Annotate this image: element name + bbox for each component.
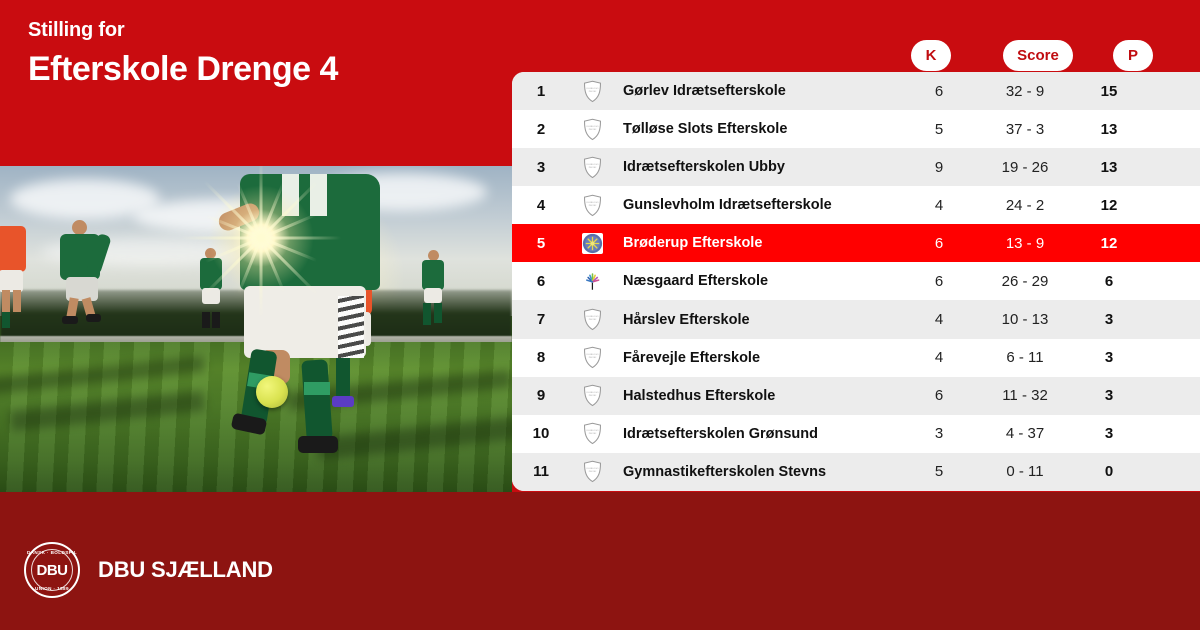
generic-shield-crest: KLUBLOGO PÅ VEJ — [583, 422, 602, 445]
svg-text:KLUBLOGO: KLUBLOGO — [586, 202, 598, 204]
svg-text:KLUBLOGO: KLUBLOGO — [586, 316, 598, 318]
row-rank: 10 — [512, 425, 570, 442]
row-goal-score: 32 - 9 — [977, 83, 1073, 100]
svg-text:KLUBLOGO: KLUBLOGO — [586, 88, 598, 90]
row-rank: 7 — [512, 311, 570, 328]
table-row[interactable]: 7 KLUBLOGO PÅ VEJ Hårslev Efterskole410 … — [512, 300, 1200, 338]
svg-text:KLUBLOGO: KLUBLOGO — [586, 164, 598, 166]
title-block: Stilling for Efterskole Drenge 4 — [28, 18, 338, 91]
table-row[interactable]: 4 KLUBLOGO PÅ VEJ Gunslevholm Idrætsefte… — [512, 186, 1200, 224]
table-row[interactable]: 1 KLUBLOGO PÅ VEJ Gørlev Idrætsefterskol… — [512, 72, 1200, 110]
row-goal-score: 37 - 3 — [977, 121, 1073, 138]
row-matches-played: 4 — [901, 197, 977, 214]
dbu-logo-mark: DBU — [37, 562, 68, 579]
row-rank: 3 — [512, 159, 570, 176]
row-goal-score: 13 - 9 — [977, 235, 1073, 252]
table-row[interactable]: 10 KLUBLOGO PÅ VEJ Idrætsefterskolen Grø… — [512, 415, 1200, 453]
row-team-name: Hårslev Efterskole — [614, 312, 901, 328]
football-photo — [0, 166, 512, 492]
row-points: 6 — [1073, 273, 1145, 290]
naesgaard-tree-crest — [582, 271, 603, 292]
generic-shield-crest: KLUBLOGO PÅ VEJ — [583, 384, 602, 407]
generic-shield-crest: KLUBLOGO PÅ VEJ — [583, 460, 602, 483]
svg-text:PÅ VEJ: PÅ VEJ — [588, 89, 595, 92]
row-points: 13 — [1073, 121, 1145, 138]
row-team-name: Gunslevholm Idrætsefterskole — [614, 197, 901, 213]
row-rank: 6 — [512, 273, 570, 290]
generic-shield-crest: KLUBLOGO PÅ VEJ — [583, 346, 602, 369]
svg-text:KLUBLOGO: KLUBLOGO — [586, 430, 598, 432]
footer-band: DANSK · BOLDSPIL DBU · UNION · 1889 · DB… — [0, 492, 1200, 630]
row-team-name: Halstedhus Efterskole — [614, 388, 901, 404]
generic-shield-crest: KLUBLOGO PÅ VEJ — [583, 156, 602, 179]
row-points: 3 — [1073, 387, 1145, 404]
row-matches-played: 5 — [901, 121, 977, 138]
row-matches-played: 3 — [901, 425, 977, 442]
row-goal-score: 0 - 11 — [977, 463, 1073, 480]
row-team-name: Idrætsefterskolen Ubby — [614, 159, 901, 175]
row-points: 3 — [1073, 311, 1145, 328]
svg-text:PÅ VEJ: PÅ VEJ — [588, 204, 595, 207]
row-team-name: Gørlev Idrætsefterskole — [614, 83, 901, 99]
generic-shield-crest: KLUBLOGO PÅ VEJ — [583, 80, 602, 103]
table-row[interactable]: 3 KLUBLOGO PÅ VEJ Idrætsefterskolen Ubby… — [512, 148, 1200, 186]
svg-text:PÅ VEJ: PÅ VEJ — [588, 127, 595, 130]
column-badge-score: Score — [1003, 40, 1073, 71]
row-matches-played: 6 — [901, 83, 977, 100]
broderup-circle-crest — [582, 233, 603, 254]
generic-shield-crest: KLUBLOGO PÅ VEJ — [583, 118, 602, 141]
row-rank: 8 — [512, 349, 570, 366]
column-badge-p: P — [1113, 40, 1153, 71]
row-points: 15 — [1073, 83, 1145, 100]
table-row[interactable]: 8 KLUBLOGO PÅ VEJ Fårevejle Efterskole46… — [512, 339, 1200, 377]
svg-text:KLUBLOGO: KLUBLOGO — [586, 469, 598, 471]
standings-graphic: Stilling for Efterskole Drenge 4 — [0, 0, 1200, 630]
generic-shield-crest: KLUBLOGO PÅ VEJ — [583, 194, 602, 217]
row-matches-played: 4 — [901, 349, 977, 366]
row-rank: 2 — [512, 121, 570, 138]
table-row[interactable]: 11 KLUBLOGO PÅ VEJ Gymnastikefterskolen … — [512, 453, 1200, 491]
row-points: 0 — [1073, 463, 1145, 480]
standings-table: 1 KLUBLOGO PÅ VEJ Gørlev Idrætsefterskol… — [512, 72, 1200, 491]
row-goal-score: 4 - 37 — [977, 425, 1073, 442]
table-row[interactable]: 2 KLUBLOGO PÅ VEJ Tølløse Slots Eftersko… — [512, 110, 1200, 148]
row-crest: KLUBLOGO PÅ VEJ — [570, 80, 614, 103]
row-matches-played: 4 — [901, 311, 977, 328]
column-badge-k: K — [911, 40, 951, 71]
row-goal-score: 26 - 29 — [977, 273, 1073, 290]
row-matches-played: 6 — [901, 387, 977, 404]
svg-text:PÅ VEJ: PÅ VEJ — [588, 166, 595, 169]
dbu-logo-ring-top: DANSK · BOLDSPIL — [26, 550, 78, 555]
sun-flare — [201, 178, 321, 298]
row-crest: KLUBLOGO PÅ VEJ — [570, 346, 614, 369]
row-matches-played: 5 — [901, 463, 977, 480]
row-team-name: Idrætsefterskolen Grønsund — [614, 426, 901, 442]
row-points: 13 — [1073, 159, 1145, 176]
row-team-name: Næsgaard Efterskole — [614, 273, 901, 289]
dbu-logo: DANSK · BOLDSPIL DBU · UNION · 1889 · — [24, 542, 80, 598]
svg-text:PÅ VEJ: PÅ VEJ — [588, 394, 595, 397]
footer-org-name: DBU SJÆLLAND — [98, 557, 273, 583]
svg-text:KLUBLOGO: KLUBLOGO — [586, 126, 598, 128]
row-crest: KLUBLOGO PÅ VEJ — [570, 118, 614, 141]
svg-text:PÅ VEJ: PÅ VEJ — [588, 432, 595, 435]
svg-text:KLUBLOGO: KLUBLOGO — [586, 392, 598, 394]
football-ball — [256, 376, 288, 408]
row-rank: 4 — [512, 197, 570, 214]
table-row[interactable]: 5 Brøderup Efterskole613 - 912 — [512, 224, 1200, 262]
row-team-name: Gymnastikefterskolen Stevns — [614, 464, 901, 480]
row-team-name: Tølløse Slots Efterskole — [614, 121, 901, 137]
row-crest — [570, 271, 614, 292]
row-goal-score: 10 - 13 — [977, 311, 1073, 328]
dbu-logo-ring-bottom: · UNION · 1889 · — [26, 586, 78, 591]
row-matches-played: 6 — [901, 235, 977, 252]
row-rank: 1 — [512, 83, 570, 100]
row-crest — [570, 233, 614, 254]
svg-text:PÅ VEJ: PÅ VEJ — [588, 318, 595, 321]
row-points: 3 — [1073, 425, 1145, 442]
table-row[interactable]: 6 Næsgaard Efterskole626 - 296 — [512, 262, 1200, 300]
generic-shield-crest: KLUBLOGO PÅ VEJ — [583, 308, 602, 331]
row-crest: KLUBLOGO PÅ VEJ — [570, 308, 614, 331]
row-points: 12 — [1073, 235, 1145, 252]
row-crest: KLUBLOGO PÅ VEJ — [570, 194, 614, 217]
table-row[interactable]: 9 KLUBLOGO PÅ VEJ Halstedhus Efterskole6… — [512, 377, 1200, 415]
row-matches-played: 9 — [901, 159, 977, 176]
row-crest: KLUBLOGO PÅ VEJ — [570, 384, 614, 407]
row-points: 3 — [1073, 349, 1145, 366]
row-goal-score: 24 - 2 — [977, 197, 1073, 214]
page-title: Efterskole Drenge 4 — [28, 48, 338, 91]
row-crest: KLUBLOGO PÅ VEJ — [570, 460, 614, 483]
row-goal-score: 19 - 26 — [977, 159, 1073, 176]
row-rank: 5 — [512, 235, 570, 252]
svg-text:PÅ VEJ: PÅ VEJ — [588, 470, 595, 473]
row-team-name: Fårevejle Efterskole — [614, 350, 901, 366]
row-rank: 11 — [512, 463, 570, 480]
kicker-text: Stilling for — [28, 18, 338, 42]
svg-text:KLUBLOGO: KLUBLOGO — [586, 354, 598, 356]
row-team-name: Brøderup Efterskole — [614, 235, 901, 251]
svg-text:PÅ VEJ: PÅ VEJ — [588, 356, 595, 359]
row-matches-played: 6 — [901, 273, 977, 290]
row-goal-score: 6 - 11 — [977, 349, 1073, 366]
row-goal-score: 11 - 32 — [977, 387, 1073, 404]
row-points: 12 — [1073, 197, 1145, 214]
row-rank: 9 — [512, 387, 570, 404]
row-crest: KLUBLOGO PÅ VEJ — [570, 156, 614, 179]
row-crest: KLUBLOGO PÅ VEJ — [570, 422, 614, 445]
